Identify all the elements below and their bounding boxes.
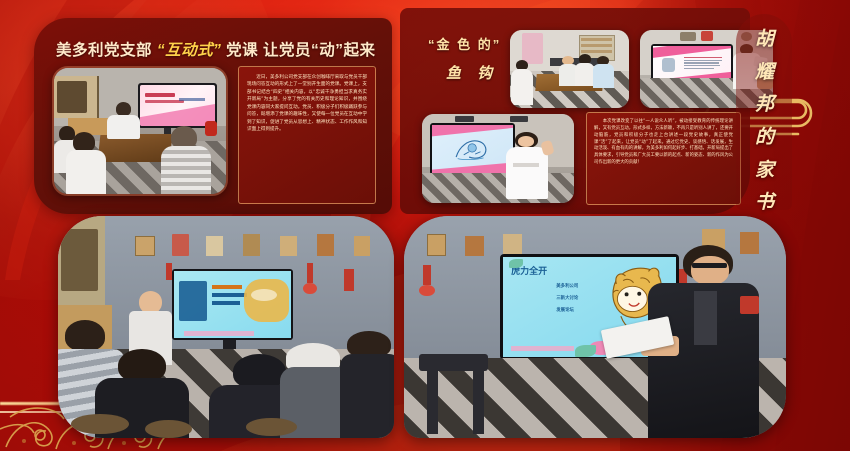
forum-speaker-photo: 虎力全开 美多利公司 三新大讨论 发展论坛 [404, 216, 786, 438]
golden-fishhook-story-photo [422, 114, 574, 203]
mid-article-textbox: 本次党课改变了以往“一人说众人听”，被动接受教育的传统理论讲解，又有党员互动，形… [586, 112, 741, 205]
screen-subline-1: 美多利公司 [556, 283, 578, 289]
employee-discussion-photo [510, 30, 629, 108]
left-article-panel: 美多利党支部 “互动式” 党课 让党员“动”起来 [34, 18, 392, 214]
calligraphy-char: 家 [742, 155, 788, 188]
screen-headline: 虎力全开 [511, 267, 547, 276]
calligraphy-char: 胡 [742, 24, 788, 57]
party-lecture-photo [52, 66, 228, 196]
mid-article-body: 本次党课改变了以往“一人说众人听”，被动接受教育的传统理论讲解，又有党员互动，形… [594, 119, 733, 167]
left-article-textbox: 近日，美多利公司党支部在众创咖啡厅采取与党员干部现场问答互动的形式上了一堂别开生… [238, 66, 376, 204]
mid-article-panel: “金 色 的” 鱼 钩 [400, 8, 750, 214]
page-title-highlight: “互动式” [157, 42, 222, 59]
fishhook-illustration-icon [443, 135, 500, 162]
page-title-part2: 党课 [226, 42, 258, 59]
page-title-part3: 让党员“动”起来 [263, 42, 376, 59]
calligraphy-char: 邦 [742, 89, 788, 122]
page-title-part1: 美多利党支部 [56, 42, 152, 59]
left-article-body: 近日，美多利公司党支部在众创咖啡厅采取与党员干部现场问答互动的形式上了一堂别开生… [247, 74, 367, 134]
calligraphy-title: 胡 耀 邦 的 家 书 [742, 24, 788, 220]
forum-audience-photo [58, 216, 394, 438]
calligraphy-char: 耀 [742, 57, 788, 90]
calligraphy-char: 的 [742, 122, 788, 155]
page-title: 美多利党支部 “互动式” 党课 让党员“动”起来 [56, 38, 386, 60]
screen-subline-2: 三新大讨论 [556, 295, 578, 301]
screen-subline-3: 发展论坛 [556, 307, 574, 313]
poster-canvas: 美多利党支部 “互动式” 党课 让党员“动”起来 [0, 0, 850, 451]
